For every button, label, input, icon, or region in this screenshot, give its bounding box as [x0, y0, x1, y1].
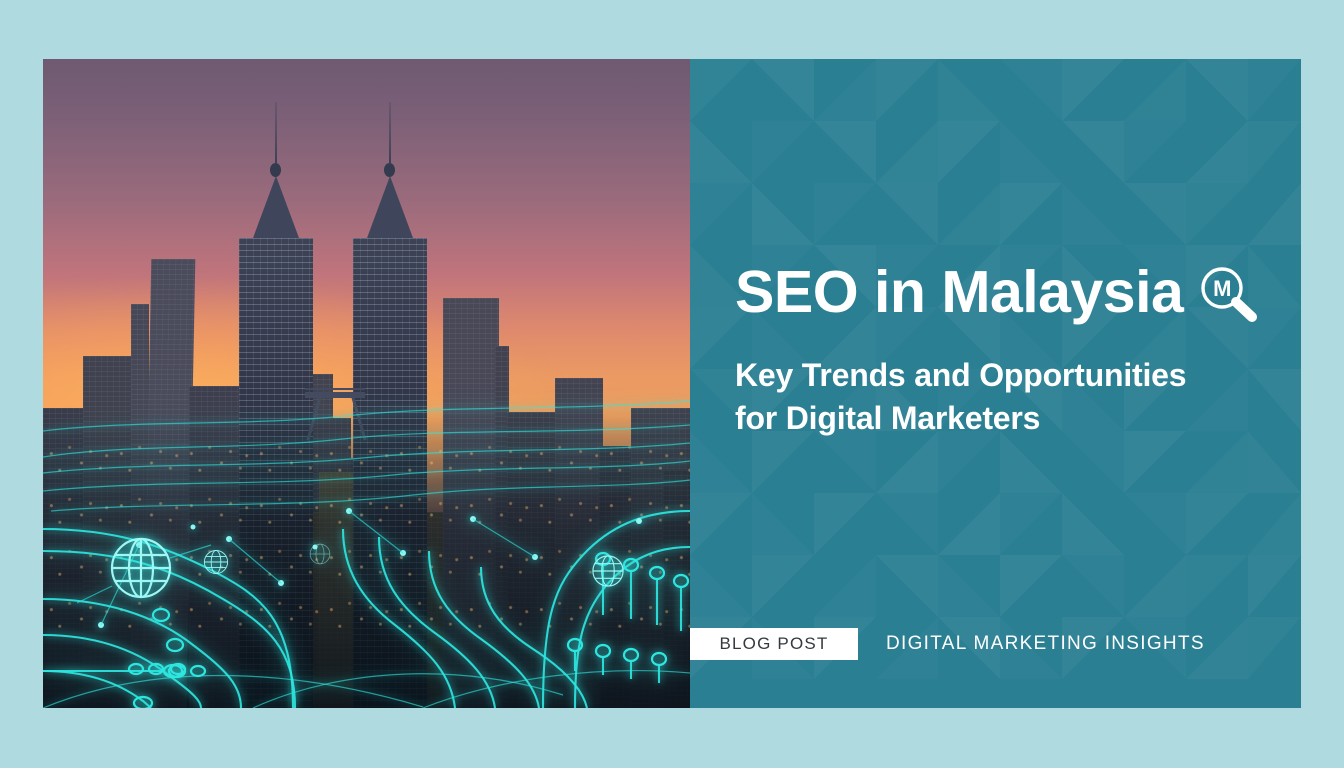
poster-canvas: SEO in Malaysia M Key Trends and Opportu…: [0, 0, 1344, 768]
page-title: SEO in Malaysia M: [735, 263, 1259, 322]
petronas-skybridge-rail: [305, 388, 365, 390]
magnifier-m-icon: M: [1197, 264, 1259, 322]
petronas-tower-2-ball: [384, 163, 395, 177]
petronas-tower-1-spire: [275, 102, 277, 164]
panel-content: SEO in Malaysia M Key Trends and Opportu…: [690, 59, 1301, 708]
petronas-tower-2-spire: [389, 102, 391, 164]
page-subtitle-line-1: Key Trends and Opportunities: [735, 357, 1186, 393]
window-lights: [43, 438, 690, 648]
petronas-tower-1-crown: [253, 176, 299, 238]
petronas-skybridge: [305, 392, 365, 398]
page-subtitle-line-2: for Digital Marketers: [735, 397, 1186, 440]
hero-image: [43, 59, 690, 708]
page-subtitle: Key Trends and Opportunities for Digital…: [735, 354, 1186, 440]
content-panel: SEO in Malaysia M Key Trends and Opportu…: [690, 59, 1301, 708]
petronas-tower-1-ball: [270, 163, 281, 177]
page-title-text: SEO in Malaysia: [735, 263, 1183, 322]
tagline: DIGITAL MARKETING INSIGHTS: [886, 633, 1205, 655]
status-badge[interactable]: BLOG POST: [690, 628, 858, 660]
petronas-tower-2-crown: [367, 176, 413, 238]
svg-text:M: M: [1213, 276, 1231, 301]
meta-bar: BLOG POST DIGITAL MARKETING INSIGHTS: [690, 628, 1205, 660]
banner-card: SEO in Malaysia M Key Trends and Opportu…: [43, 59, 1301, 708]
